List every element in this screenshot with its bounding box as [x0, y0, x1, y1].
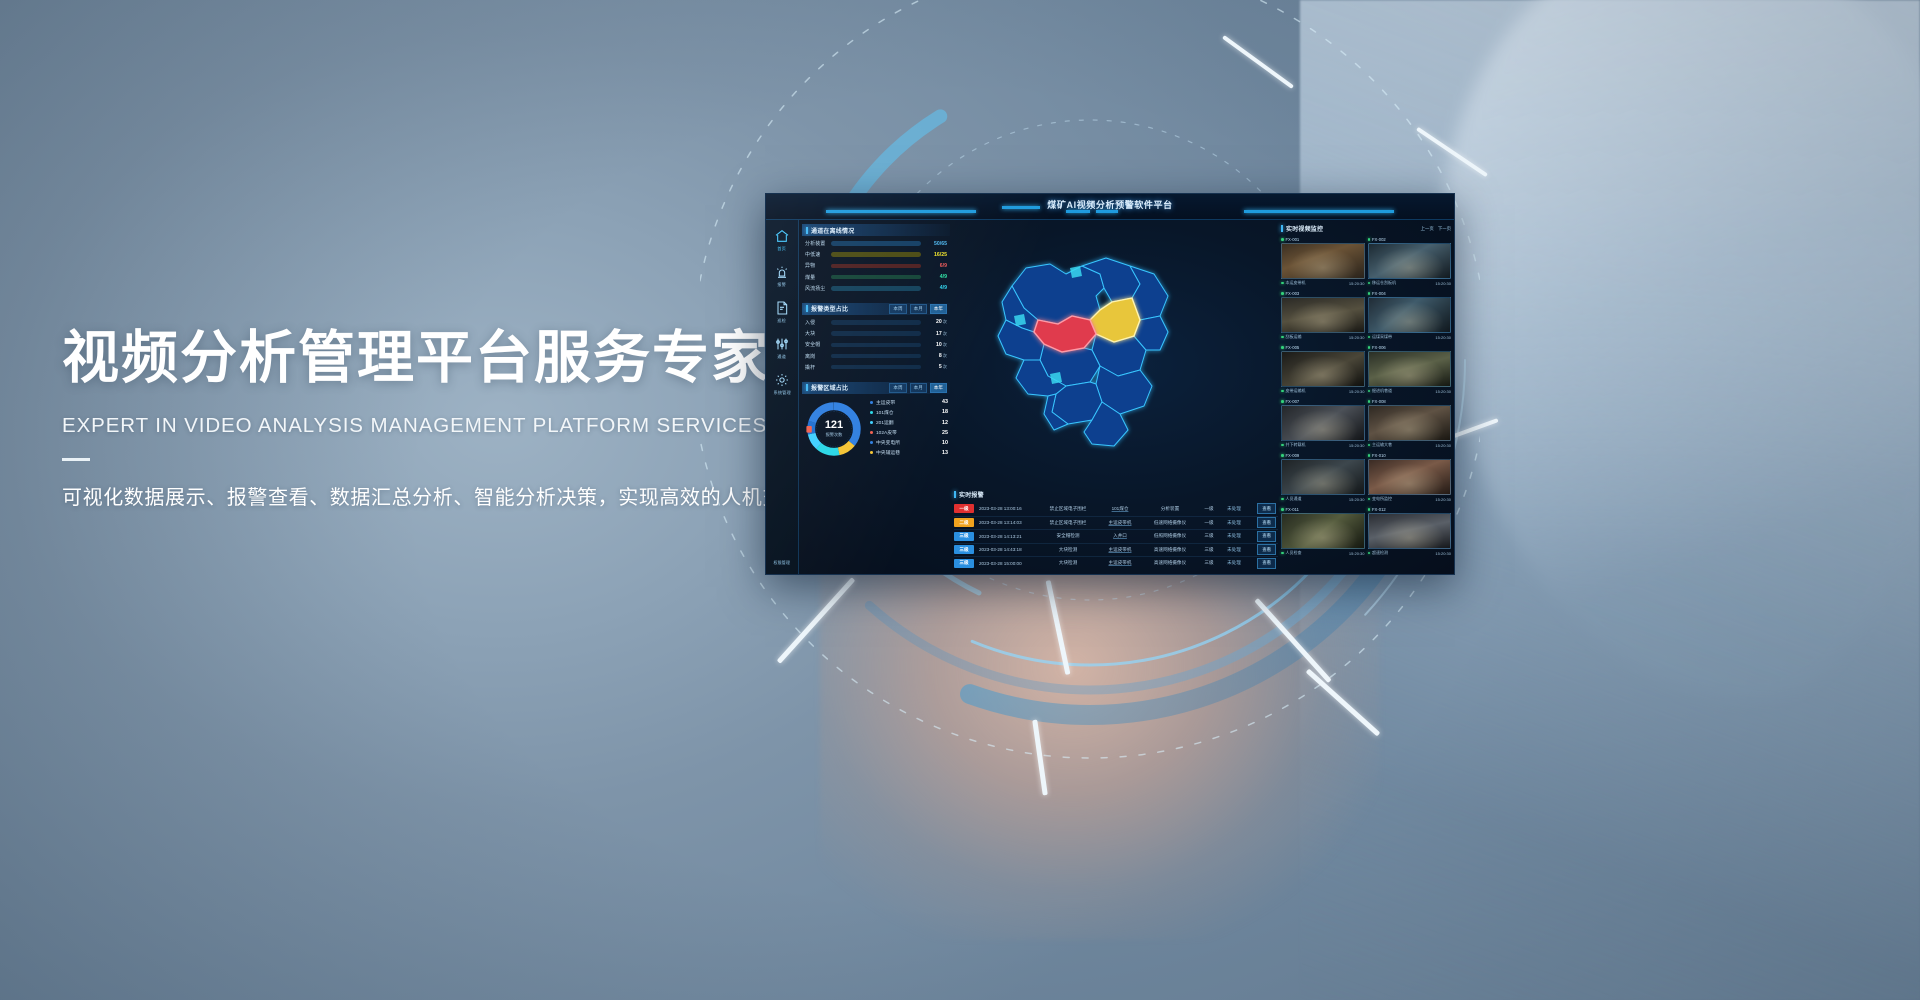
record-dot-icon	[1368, 498, 1371, 501]
row-value: 4/9	[921, 274, 947, 280]
legend-label: 102A皮带	[876, 429, 942, 436]
pager: 上一页 下一页	[1421, 226, 1451, 232]
video-time: 15:20:30	[1435, 389, 1451, 394]
accent-bar	[1281, 225, 1283, 232]
channel-row: 风流扬尘 4/9	[805, 285, 947, 292]
progress-track	[831, 354, 921, 359]
alarm-icon	[774, 264, 790, 280]
online-dot-icon	[1281, 238, 1284, 241]
channel-row: 异物 6/9	[805, 262, 947, 269]
alarm-type-row: 安全帽 10次	[805, 341, 947, 348]
unit-label: 次	[942, 319, 947, 324]
view-button[interactable]: 查看	[1257, 558, 1276, 569]
video-cell[interactable]: FX-011 人员检查15:20:30	[1281, 506, 1365, 557]
online-dot-icon	[1281, 454, 1284, 457]
unit-label: 次	[942, 342, 947, 347]
progress-track	[831, 275, 921, 280]
row-value: 6/9	[921, 263, 947, 269]
realtime-alarm-section: 实时报警 一级 2023-03-28 13:00:16 禁止区域电子围栏 101…	[954, 490, 1278, 570]
video-name: 刮板运输	[1286, 334, 1302, 340]
panel-title: 报警区域占比	[811, 383, 848, 392]
cell-level: 一级	[1197, 506, 1221, 512]
accent-bar	[806, 305, 808, 312]
view-button[interactable]: 查看	[1257, 531, 1276, 542]
donut-caption: 报警次数	[826, 432, 843, 438]
video-time: 15:20:30	[1349, 551, 1365, 556]
video-time: 15:20:30	[1435, 335, 1451, 340]
video-thumbnail[interactable]	[1281, 351, 1365, 387]
progress-track	[831, 252, 921, 257]
legend-value: 13	[942, 450, 948, 456]
record-dot-icon	[1281, 390, 1284, 393]
record-dot-icon	[1281, 336, 1284, 339]
video-time: 15:20:30	[1349, 335, 1365, 340]
divider	[62, 458, 90, 461]
legend-label: 中央辅运巷	[876, 449, 942, 456]
page-title: 视频分析管理平台服务专家	[62, 326, 822, 392]
cell-type: 大块检测	[1039, 547, 1097, 553]
sidebar-item-inspection[interactable]: 巡检	[766, 300, 798, 324]
video-cell[interactable]: FX-008 主运输大巷15:20:30	[1368, 398, 1452, 449]
cell-time: 2023-03-28 13:14:03	[979, 520, 1039, 525]
sidebar-item-settings[interactable]: 系统管理	[766, 372, 798, 396]
video-cell[interactable]: FX-001 本运皮带机15:20:30	[1281, 236, 1365, 287]
view-button[interactable]: 查看	[1257, 517, 1276, 528]
channel-row: 煤量 4/9	[805, 274, 947, 281]
video-time: 15:20:30	[1349, 443, 1365, 448]
cell-device: 分析装置	[1143, 506, 1197, 512]
legend-label: 201运翻	[876, 419, 942, 426]
settings-icon	[774, 372, 790, 388]
cell-action: 查看	[1247, 531, 1278, 542]
video-name: 运煤采煤带	[1372, 334, 1392, 340]
progress-track	[831, 241, 921, 246]
table-row[interactable]: 二级 2023-03-28 13:14:03 禁止区域电子围栏 主运皮带机 低速…	[954, 516, 1278, 530]
period-tabs: 本周 本月 本年	[889, 304, 950, 314]
video-footer: 变电所监控15:20:30	[1368, 495, 1452, 503]
channel-status-panel: 通道在离线情况 分析装置 50/65 中低速 16/25 异物 6/9	[802, 224, 950, 298]
tab-week[interactable]: 本周	[889, 304, 906, 314]
video-name: 主运输大巷	[1372, 442, 1392, 448]
section-title: 实时视频监控	[1286, 224, 1323, 233]
sidebar-item-channel[interactable]: 通道	[766, 336, 798, 360]
video-name: 移运仓刮板机	[1372, 280, 1396, 286]
panel-header: 报警区域占比 本周 本月 本年	[802, 382, 950, 394]
section-header: 实时报警	[954, 490, 1278, 499]
progress-track	[831, 264, 921, 269]
legend-item: 101煤仓18	[870, 409, 948, 416]
sidebar-label-inspection: 巡检	[778, 318, 787, 324]
alarm-type-row: 入侵 20次	[805, 319, 947, 326]
row-value: 5次	[921, 364, 947, 370]
video-time: 15:20:30	[1349, 389, 1365, 394]
video-thumbnail[interactable]	[1281, 243, 1365, 279]
video-channel: FX-003	[1286, 291, 1300, 296]
legend-value: 25	[942, 430, 948, 436]
video-thumbnail[interactable]	[1281, 513, 1365, 549]
row-value: 50/65	[921, 241, 947, 247]
region-map[interactable]	[954, 224, 1212, 489]
panel-header: 通道在离线情况	[802, 224, 950, 236]
cell-action: 查看	[1247, 517, 1278, 528]
panel-header: 报警类型占比 本周 本月 本年	[802, 303, 950, 315]
video-footer: 运煤采煤带15:20:30	[1368, 333, 1452, 341]
video-channel: FX-004	[1372, 291, 1386, 296]
left-panel-column: 通道在离线情况 分析装置 50/65 中低速 16/25 异物 6/9	[802, 224, 950, 466]
row-label: 中低速	[805, 251, 831, 258]
video-channel: FX-009	[1286, 453, 1300, 458]
accent-bar	[806, 227, 808, 234]
cell-area: 101煤仓	[1097, 506, 1143, 512]
sidebar-footer[interactable]: 权限管理	[773, 558, 791, 566]
sidebar-label-home: 首页	[778, 246, 787, 252]
tab-month[interactable]: 本月	[910, 383, 927, 393]
home-icon	[774, 228, 790, 244]
row-label: 煤量	[805, 274, 831, 281]
donut-value: 121	[825, 420, 843, 431]
online-dot-icon	[1368, 292, 1371, 295]
video-thumbnail[interactable]	[1281, 405, 1365, 441]
cell-type: 大块检测	[1039, 560, 1097, 566]
cell-action: 查看	[1247, 558, 1278, 569]
cell-type: 禁止区域电子围栏	[1039, 520, 1097, 526]
video-time: 15:20:30	[1349, 281, 1365, 286]
online-dot-icon	[1281, 400, 1284, 403]
accent-bar	[806, 384, 808, 391]
video-name: 皮带运输机	[1286, 388, 1306, 394]
record-dot-icon	[1368, 390, 1371, 393]
video-channel: FX-006	[1372, 345, 1386, 350]
dashboard-screen: 煤矿AI视频分析预警软件平台 首页 报警 巡检 通道	[765, 193, 1455, 575]
legend-label: 101煤仓	[876, 409, 942, 416]
online-dot-icon	[1368, 400, 1371, 403]
video-name: 人员检查	[1286, 550, 1302, 556]
status-badge: 一级	[954, 504, 974, 513]
cell-action: 查看	[1247, 503, 1278, 514]
table-row[interactable]: 三级 2023-03-28 15:00:00 大块检测 主运皮带机 高速网络摄像…	[954, 556, 1278, 570]
panel-title: 通道在离线情况	[811, 226, 854, 235]
row-value: 16/25	[921, 252, 947, 258]
video-footer: 皮带运输机15:20:30	[1281, 387, 1365, 395]
video-name: 本运皮带机	[1286, 280, 1306, 286]
video-time: 15:20:30	[1435, 443, 1451, 448]
record-dot-icon	[1368, 552, 1371, 555]
video-footer: 主运输大巷15:20:30	[1368, 441, 1452, 449]
accent-bar	[954, 491, 956, 498]
row-label: 大块	[805, 330, 831, 337]
sidebar-label-channel: 通道	[778, 354, 787, 360]
progress-track	[831, 286, 921, 291]
cell-type: 安全帽检测	[1039, 533, 1097, 539]
row-label: 撬杆	[805, 364, 831, 371]
cell-level: 三级	[1197, 547, 1221, 553]
row-label: 安全帽	[805, 341, 831, 348]
hero-text-block: 视频分析管理平台服务专家 EXPERT IN VIDEO ANALYSIS MA…	[62, 326, 822, 510]
panel-title: 报警类型占比	[811, 304, 848, 313]
video-cell[interactable]: FX-005 皮带运输机15:20:30	[1281, 344, 1365, 395]
legend-value: 12	[942, 420, 948, 426]
alarm-type-row: 撬杆 5次	[805, 364, 947, 371]
video-name: 超速检测	[1372, 550, 1388, 556]
row-value: 17次	[921, 331, 947, 337]
sidebar-label-settings: 系统管理	[773, 390, 790, 396]
video-cell[interactable]: FX-002 移运仓刮板机15:20:30	[1368, 236, 1452, 287]
legend-label: 中央变电所	[876, 439, 942, 446]
row-value: 20次	[921, 319, 947, 325]
sidebar-item-alarm[interactable]: 报警	[766, 264, 798, 288]
video-monitor-section: 实时视频监控 上一页 下一页 FX-001 本运皮带机15:20:30 FX-0…	[1281, 224, 1451, 570]
video-footer: 超速检测15:20:30	[1368, 549, 1452, 557]
video-footer: 移运仓刮板机15:20:30	[1368, 279, 1452, 287]
legend-item: 102A皮带25	[870, 429, 948, 436]
alarm-type-row: 离岗 8次	[805, 353, 947, 360]
video-thumbnail[interactable]	[1368, 459, 1452, 495]
video-footer: 掘进机巷道15:20:30	[1368, 387, 1452, 395]
video-channel: FX-008	[1372, 399, 1386, 404]
video-time: 15:20:30	[1435, 281, 1451, 286]
table-row[interactable]: 三级 2023-03-28 14:13:21 安全帽检测 入井口 低照网络摄像仪…	[954, 529, 1278, 543]
video-header: FX-006	[1368, 344, 1452, 351]
progress-track	[831, 365, 921, 370]
online-dot-icon	[1281, 346, 1284, 349]
alarm-table: 一级 2023-03-28 13:00:16 禁止区域电子围栏 101煤仓 分析…	[954, 502, 1278, 570]
online-dot-icon	[1368, 454, 1371, 457]
cell-time: 2023-03-28 15:00:00	[979, 561, 1039, 566]
sidebar-label-alarm: 报警	[778, 282, 787, 288]
record-dot-icon	[1281, 444, 1284, 447]
video-name: 人员通道	[1286, 496, 1302, 502]
unit-label: 次	[942, 364, 947, 369]
progress-track	[831, 343, 921, 348]
video-header: FX-008	[1368, 398, 1452, 405]
legend-value: 18	[942, 409, 948, 415]
video-time: 15:20:30	[1349, 497, 1365, 502]
row-value: 10次	[921, 342, 947, 348]
video-channel: FX-001	[1286, 237, 1300, 242]
sidebar-item-home[interactable]: 首页	[766, 228, 798, 252]
video-thumbnail[interactable]	[1281, 297, 1365, 333]
cell-device: 低照网络摄像仪	[1143, 533, 1197, 539]
video-channel: FX-011	[1286, 507, 1299, 512]
cell-device: 低速网络摄像仪	[1143, 520, 1197, 526]
channel-icon	[774, 336, 790, 352]
view-button[interactable]: 查看	[1257, 503, 1276, 514]
cell-status: 未处理	[1221, 520, 1247, 526]
section-title: 实时报警	[959, 490, 984, 499]
cell-status: 未处理	[1221, 560, 1247, 566]
video-thumbnail[interactable]	[1368, 351, 1452, 387]
cell-area: 入井口	[1097, 533, 1143, 539]
record-dot-icon	[1368, 336, 1371, 339]
video-thumbnail[interactable]	[1368, 243, 1452, 279]
online-dot-icon	[1281, 508, 1284, 511]
prev-page-button[interactable]: 上一页	[1421, 226, 1434, 232]
video-thumbnail[interactable]	[1368, 297, 1452, 333]
video-header: FX-007	[1281, 398, 1365, 405]
record-dot-icon	[1368, 444, 1371, 447]
cell-status: 未处理	[1221, 547, 1247, 553]
progress-track	[831, 320, 921, 325]
video-header: FX-003	[1281, 290, 1365, 297]
video-header: FX-010	[1368, 452, 1452, 459]
video-cell[interactable]: FX-004 运煤采煤带15:20:30	[1368, 290, 1452, 341]
table-row[interactable]: 一级 2023-03-28 13:00:16 禁止区域电子围栏 101煤仓 分析…	[954, 502, 1278, 516]
progress-track	[831, 331, 921, 336]
cell-status: 未处理	[1221, 533, 1247, 539]
video-name: 变电所监控	[1372, 496, 1392, 502]
cell-action: 查看	[1247, 544, 1278, 555]
alarm-area-panel: 报警区域占比 本周 本月 本年	[802, 382, 950, 462]
hero-subtitle: EXPERT IN VIDEO ANALYSIS MANAGEMENT PLAT…	[62, 414, 822, 438]
video-channel: FX-007	[1286, 399, 1300, 404]
video-channel: FX-010	[1372, 453, 1386, 458]
alarm-area-donut-chart: 121 报警次数	[804, 399, 864, 459]
next-page-button[interactable]: 下一页	[1438, 226, 1451, 232]
legend-item: 中央辅运巷13	[870, 449, 948, 456]
video-header: FX-005	[1281, 344, 1365, 351]
video-footer: 井下转载机15:20:30	[1281, 441, 1365, 449]
video-header: FX-012	[1368, 506, 1452, 513]
online-dot-icon	[1368, 346, 1371, 349]
video-cell[interactable]: FX-006 掘进机巷道15:20:30	[1368, 344, 1452, 395]
cell-device: 高速网络摄像仪	[1143, 560, 1197, 566]
row-label: 离岗	[805, 353, 831, 360]
online-dot-icon	[1368, 238, 1371, 241]
video-footer: 刮板运输15:20:30	[1281, 333, 1365, 341]
video-header: FX-001	[1281, 236, 1365, 243]
video-grid: FX-001 本运皮带机15:20:30 FX-002 移运仓刮板机15:20:…	[1281, 236, 1451, 557]
online-dot-icon	[1281, 292, 1284, 295]
unit-label: 次	[942, 331, 947, 336]
legend-item: 中央变电所10	[870, 439, 948, 446]
cell-time: 2023-03-28 13:00:16	[979, 506, 1039, 511]
dashboard-title: 煤矿AI视频分析预警软件平台	[766, 198, 1454, 211]
online-dot-icon	[1368, 508, 1371, 511]
dashboard-sidebar: 首页 报警 巡检 通道 系统管理 权限管理	[766, 220, 799, 574]
cell-time: 2023-03-28 14:13:21	[979, 534, 1039, 539]
status-badge: 三级	[954, 559, 974, 568]
inspection-icon	[774, 300, 790, 316]
video-header: FX-009	[1281, 452, 1365, 459]
row-label: 风流扬尘	[805, 285, 831, 292]
status-badge: 三级	[954, 532, 974, 541]
record-dot-icon	[1368, 282, 1371, 285]
view-button[interactable]: 查看	[1257, 544, 1276, 555]
donut-legend: 主运皮带43 101煤仓18 201运翻12 102A皮带25 中央变电所10 …	[864, 399, 948, 460]
record-dot-icon	[1281, 282, 1284, 285]
cell-device: 高速网络摄像仪	[1143, 547, 1197, 553]
video-channel: FX-002	[1372, 237, 1386, 242]
video-header: FX-002	[1368, 236, 1452, 243]
legend-value: 10	[942, 440, 948, 446]
legend-value: 43	[942, 399, 948, 405]
video-footer: 人员检查15:20:30	[1281, 549, 1365, 557]
tab-month[interactable]: 本月	[910, 304, 927, 314]
channel-row: 中低速 16/25	[805, 251, 947, 258]
panel-body: 入侵 20次 大块 17次 安全帽 10次 离岗 8次	[802, 315, 950, 377]
cell-status: 未处理	[1221, 506, 1247, 512]
video-channel: FX-012	[1372, 507, 1386, 512]
status-badge: 三级	[954, 545, 974, 554]
cell-level: 一级	[1197, 520, 1221, 526]
legend-item: 201运翻12	[870, 419, 948, 426]
status-badge: 二级	[954, 518, 974, 527]
video-channel: FX-005	[1286, 345, 1300, 350]
row-label: 异物	[805, 262, 831, 269]
video-cell[interactable]: FX-009 人员通道15:20:30	[1281, 452, 1365, 503]
video-thumbnail[interactable]	[1281, 459, 1365, 495]
legend-label: 主运皮带	[876, 399, 942, 406]
period-tabs: 本周 本月 本年	[889, 383, 950, 393]
tab-year[interactable]: 本年	[930, 304, 947, 314]
video-cell[interactable]: FX-007 井下转载机15:20:30	[1281, 398, 1365, 449]
tab-week[interactable]: 本周	[889, 383, 906, 393]
cell-time: 2023-03-28 14:43:18	[979, 547, 1039, 552]
video-time: 15:20:30	[1435, 551, 1451, 556]
video-cell[interactable]: FX-012 超速检测15:20:30	[1368, 506, 1452, 557]
cell-level: 三级	[1197, 533, 1221, 539]
video-footer: 本运皮带机15:20:30	[1281, 279, 1365, 287]
video-footer: 人员通道15:20:30	[1281, 495, 1365, 503]
row-label: 分析装置	[805, 240, 831, 247]
panel-body: 分析装置 50/65 中低速 16/25 异物 6/9 煤量 4	[802, 236, 950, 298]
alarm-type-row: 大块 17次	[805, 330, 947, 337]
video-time: 15:20:30	[1435, 497, 1451, 502]
table-row[interactable]: 三级 2023-03-28 14:43:18 大块检测 主运皮带机 高速网络摄像…	[954, 543, 1278, 557]
video-name: 掘进机巷道	[1372, 388, 1392, 394]
record-dot-icon	[1281, 552, 1284, 555]
hero-description: 可视化数据展示、报警查看、数据汇总分析、智能分析决策，实现高效的人机交互	[62, 481, 822, 510]
donut-center: 121 报警次数	[804, 399, 864, 459]
video-thumbnail[interactable]	[1368, 513, 1452, 549]
cell-area: 主运皮带机	[1097, 547, 1143, 553]
video-cell[interactable]: FX-010 变电所监控15:20:30	[1368, 452, 1452, 503]
video-thumbnail[interactable]	[1368, 405, 1452, 441]
record-dot-icon	[1281, 498, 1284, 501]
row-value: 8次	[921, 353, 947, 359]
video-header: FX-011	[1281, 506, 1365, 513]
video-header: FX-004	[1368, 290, 1452, 297]
sidebar-footer-label: 权限管理	[774, 560, 791, 566]
row-label: 入侵	[805, 319, 831, 326]
cell-level: 三级	[1197, 560, 1221, 566]
cell-area: 主运皮带机	[1097, 520, 1143, 526]
row-value: 4/9	[921, 285, 947, 291]
alarm-type-panel: 报警类型占比 本周 本月 本年 入侵 20次 大块 17次	[802, 303, 950, 377]
video-cell[interactable]: FX-003 刮板运输15:20:30	[1281, 290, 1365, 341]
cell-type: 禁止区域电子围栏	[1039, 506, 1097, 512]
section-header: 实时视频监控 上一页 下一页	[1281, 224, 1451, 233]
video-name: 井下转载机	[1286, 442, 1306, 448]
panel-body: 121 报警次数 主运皮带43 101煤仓18 201运翻12 102A皮带25…	[802, 394, 950, 462]
legend-item: 主运皮带43	[870, 399, 948, 406]
channel-row: 分析装置 50/65	[805, 240, 947, 247]
cell-area: 主运皮带机	[1097, 560, 1143, 566]
unit-label: 次	[942, 353, 947, 358]
tab-year[interactable]: 本年	[930, 383, 947, 393]
